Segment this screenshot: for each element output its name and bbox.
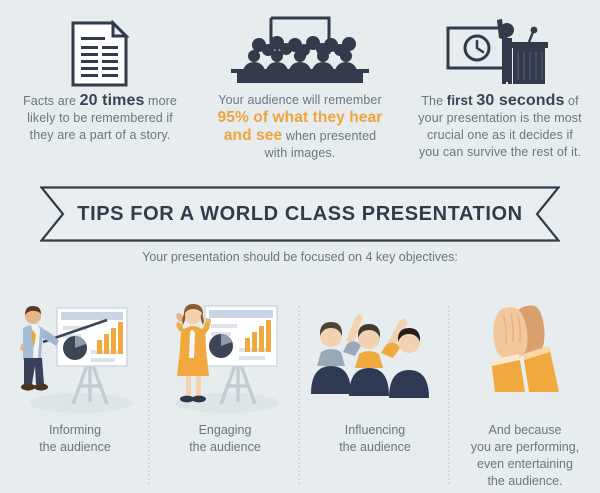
objective-engaging: Engaging the audience	[150, 296, 300, 493]
caption-fragment: first	[447, 93, 473, 108]
presenter-woman-chart-easel-illustration	[150, 296, 300, 414]
stat-caption-audience: Your audience will remember 95% of what …	[200, 92, 400, 162]
stats-row: Facts are 20 times more likely to be rem…	[0, 0, 600, 178]
stat-caption-facts: Facts are 20 times more likely to be rem…	[0, 92, 200, 144]
label-line-2: you are performing,	[471, 439, 579, 456]
objective-informing: Informing the audience	[0, 296, 150, 493]
audience-raised-hands-illustration	[300, 296, 450, 414]
stat-card-first-30-seconds: The first 30 seconds of your presentatio…	[400, 0, 600, 178]
label-line-2: the audience	[39, 439, 111, 456]
objective-label-informing: Informing the audience	[39, 422, 111, 456]
label-line-1: And because	[471, 422, 579, 439]
document-icon	[69, 0, 131, 92]
label-line-2: the audience	[339, 439, 411, 456]
stat-card-facts: Facts are 20 times more likely to be rem…	[0, 0, 200, 178]
label-line-4: the audience.	[471, 473, 579, 490]
banner-title: TIPS FOR A WORLD CLASS PRESENTATION	[40, 186, 560, 242]
objectives-subtitle: Your presentation should be focused on 4…	[0, 250, 600, 264]
stat-caption-first-30-seconds: The first 30 seconds of your presentatio…	[400, 92, 600, 161]
caption-fragment: Your audience will remember	[218, 93, 381, 107]
caption-fragment: 20 times	[80, 92, 145, 109]
presenter-man-chart-easel-illustration	[0, 296, 150, 414]
objective-label-entertaining: And because you are performing, even ent…	[471, 422, 579, 490]
objective-entertaining: And because you are performing, even ent…	[450, 296, 600, 493]
objective-label-influencing: Influencing the audience	[339, 422, 411, 456]
clapping-hands-illustration	[450, 296, 600, 414]
caption-fragment: Facts are	[23, 94, 80, 108]
stat-card-audience: Your audience will remember 95% of what …	[200, 0, 400, 178]
caption-fragment: when presented with images.	[265, 129, 377, 160]
label-line-3: even entertaining	[471, 456, 579, 473]
audience-icon	[229, 0, 371, 92]
objective-label-engaging: Engaging the audience	[189, 422, 261, 456]
speaker-podium-clock-icon	[445, 0, 555, 92]
banner: TIPS FOR A WORLD CLASS PRESENTATION	[40, 186, 560, 242]
objective-influencing: Influencing the audience	[300, 296, 450, 493]
caption-fragment: 30 seconds	[476, 92, 564, 109]
label-line-1: Influencing	[339, 422, 411, 439]
label-line-1: Engaging	[189, 422, 261, 439]
objectives-row: Informing the audience	[0, 296, 600, 493]
label-line-2: the audience	[189, 439, 261, 456]
caption-fragment: The	[421, 94, 446, 108]
label-line-1: Informing	[39, 422, 111, 439]
infographic-page: Facts are 20 times more likely to be rem…	[0, 0, 600, 493]
